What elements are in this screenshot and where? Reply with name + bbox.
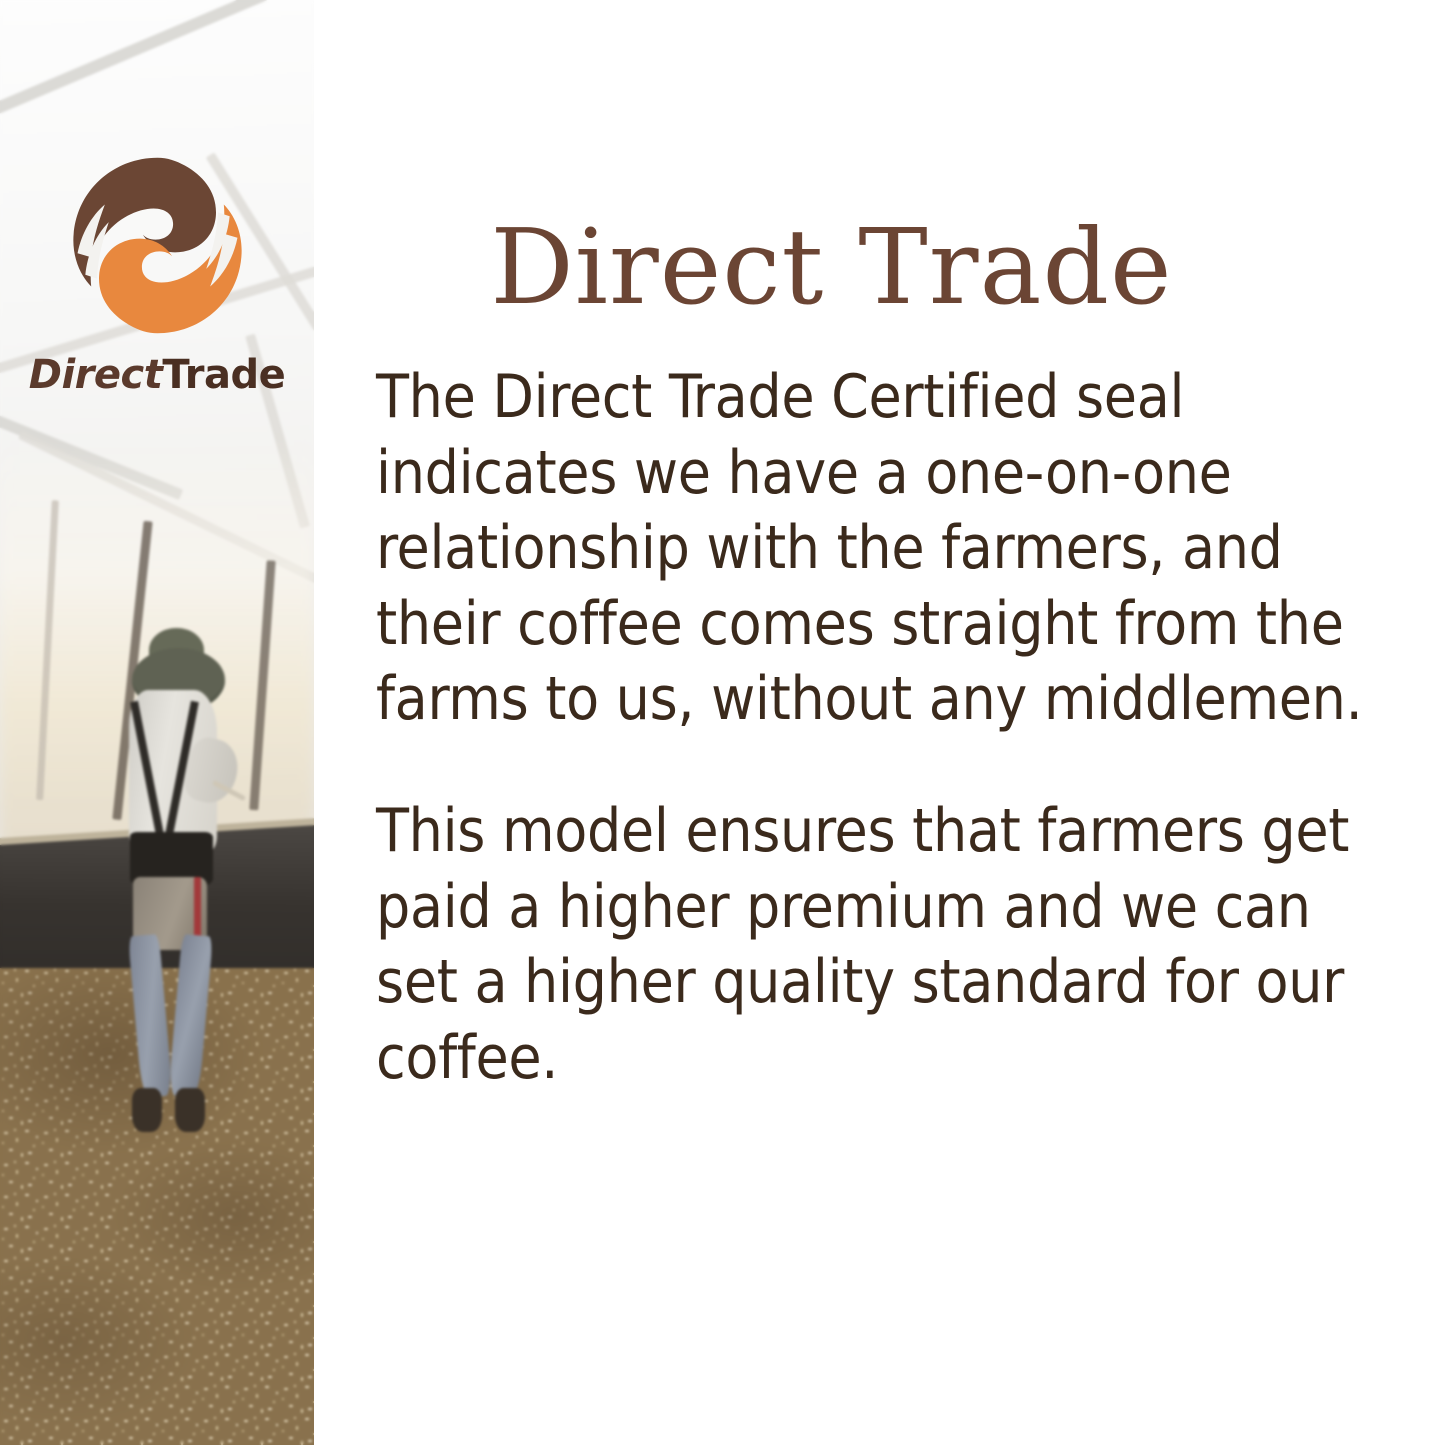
paragraph-1: The Direct Trade Certified seal indicate… xyxy=(376,360,1376,738)
logo-wordmark: DirectTrade xyxy=(29,355,285,395)
content-panel: Direct Trade The Direct Trade Certified … xyxy=(314,0,1445,1445)
two-hands-circle-icon xyxy=(60,148,255,343)
boot-right xyxy=(175,1088,205,1132)
body-copy: The Direct Trade Certified seal indicate… xyxy=(376,360,1376,1096)
leg-right xyxy=(168,934,213,1098)
paragraph-2: This model ensures that farmers get paid… xyxy=(376,794,1376,1096)
page-title: Direct Trade xyxy=(314,212,1349,322)
brand-logo: DirectTrade xyxy=(0,148,314,395)
logo-word-direct: Direct xyxy=(29,352,163,398)
red-detail xyxy=(194,877,201,941)
photo-strip-coffee-farm: DirectTrade xyxy=(0,0,314,1445)
leg-left xyxy=(127,934,172,1098)
boot-left xyxy=(132,1088,162,1132)
farmer-figure xyxy=(113,636,232,1127)
page-root: DirectTrade Direct Trade The Direct Trad… xyxy=(0,0,1445,1445)
logo-word-trade: Trade xyxy=(162,352,285,398)
